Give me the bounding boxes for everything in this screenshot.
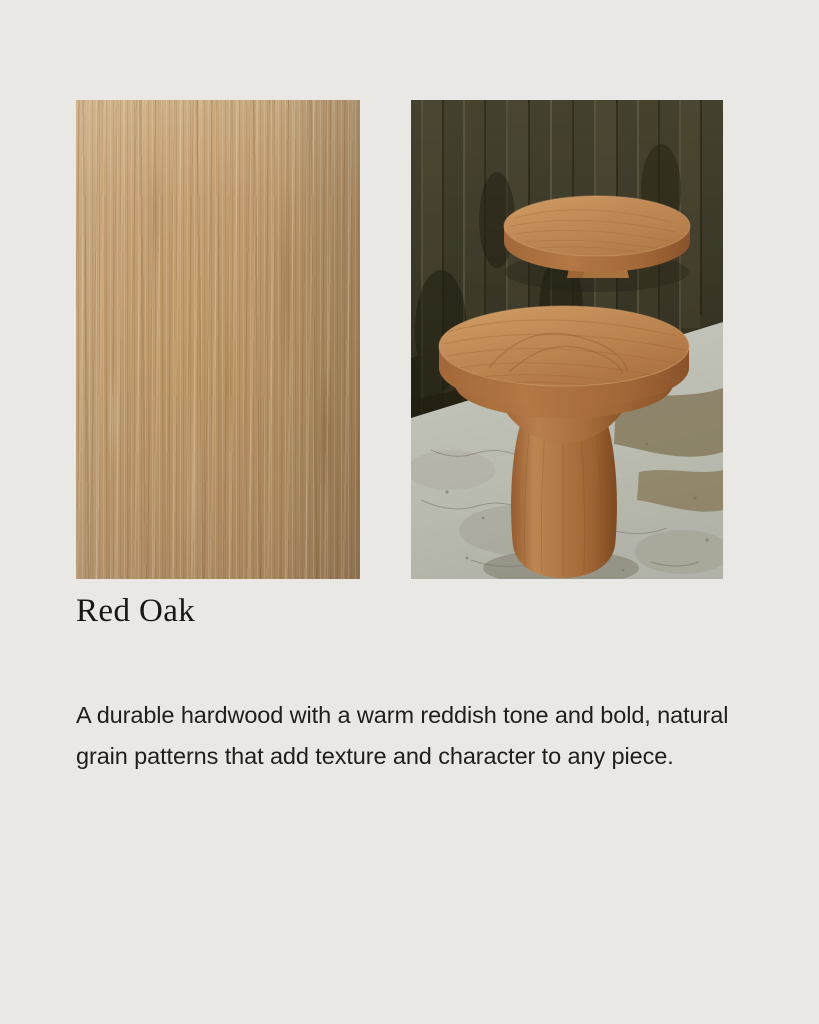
wood-swatch-image [76, 100, 360, 579]
page-title: Red Oak [76, 593, 195, 631]
material-card: Red Oak A durable hardwood with a warm r… [0, 0, 819, 1024]
media-row [76, 100, 723, 579]
material-description: A durable hardwood with a warm reddish t… [76, 695, 766, 777]
swatch-ray-flecks [76, 100, 360, 579]
photo-tone-overlay [411, 100, 723, 579]
product-photo-image [411, 100, 723, 579]
product-photo-svg [411, 100, 723, 579]
